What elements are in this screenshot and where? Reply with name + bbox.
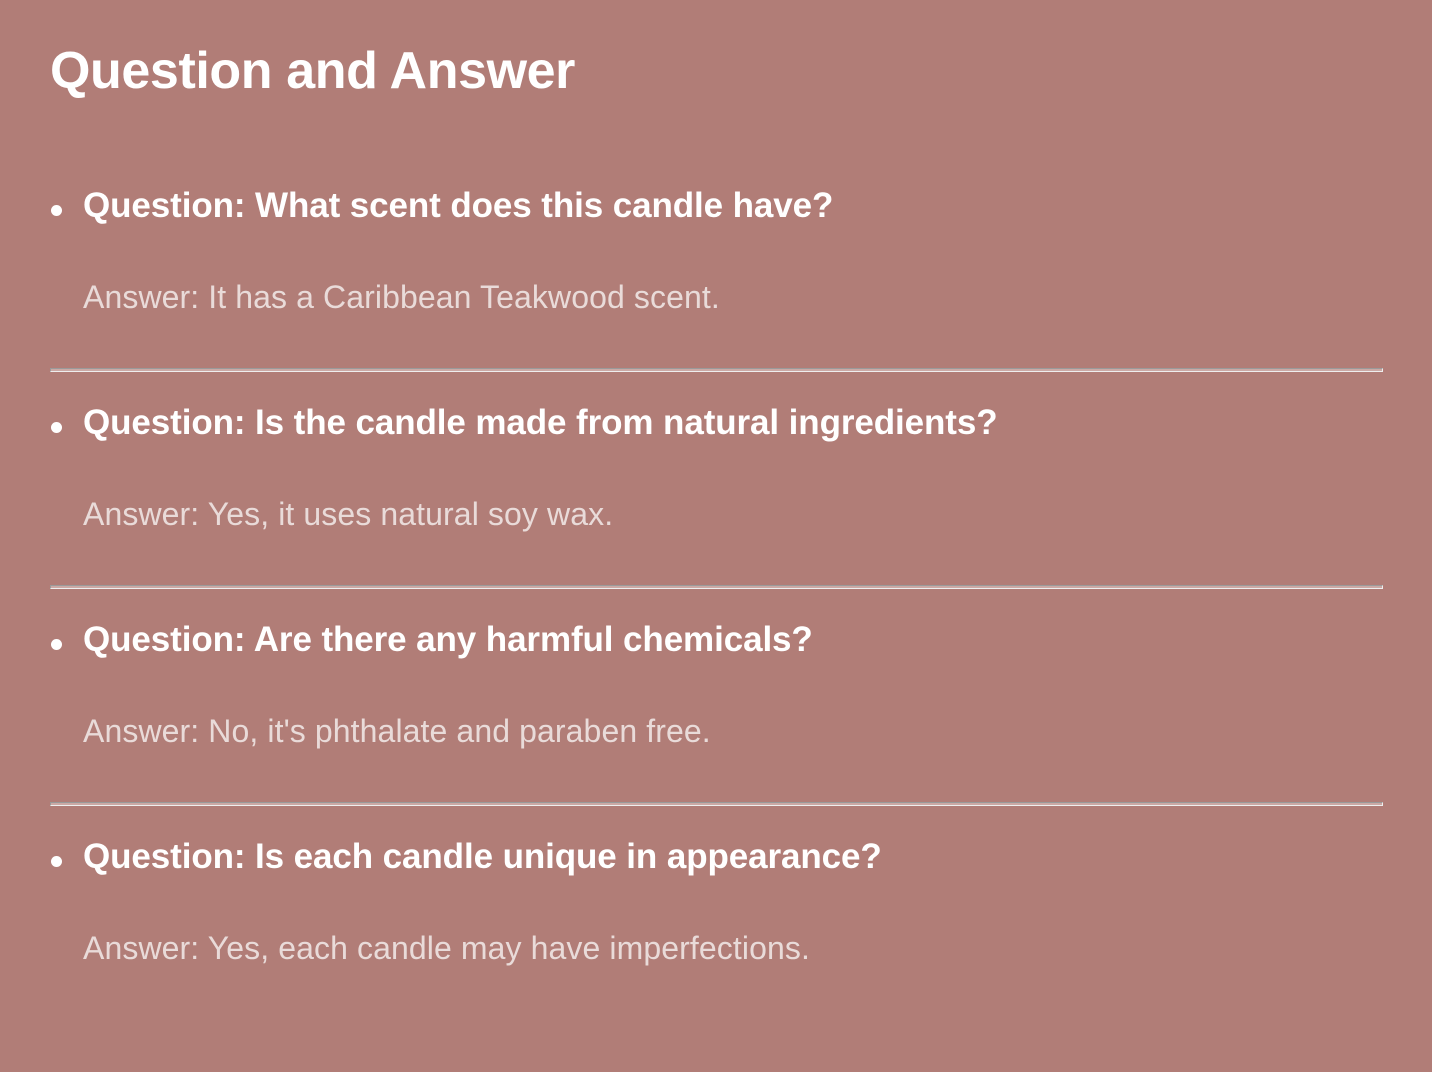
qa-divider <box>50 368 1383 372</box>
qa-answer: Answer: It has a Caribbean Teakwood scen… <box>83 277 720 319</box>
list-item: Question: Is each candle unique in appea… <box>0 809 1432 1026</box>
qa-answer: Answer: Yes, each candle may have imperf… <box>83 928 810 970</box>
list-item: Question: What scent does this candle ha… <box>0 158 1432 375</box>
qa-question: Question: Is the candle made from natura… <box>83 401 997 445</box>
qa-question: Question: Are there any harmful chemical… <box>83 618 813 662</box>
question-and-answer-panel: Question and Answer Question: What scent… <box>0 0 1432 1072</box>
qa-answer: Answer: No, it's phthalate and paraben f… <box>83 711 711 753</box>
qa-question: Question: What scent does this candle ha… <box>83 184 833 228</box>
page-title: Question and Answer <box>50 42 575 102</box>
qa-question: Question: Is each candle unique in appea… <box>83 835 882 879</box>
bullet-dot-icon <box>51 205 62 216</box>
list-item: Question: Are there any harmful chemical… <box>0 592 1432 809</box>
bullet-dot-icon <box>51 639 62 650</box>
qa-divider <box>50 802 1383 806</box>
bullet-dot-icon <box>51 422 62 433</box>
list-item: Question: Is the candle made from natura… <box>0 375 1432 592</box>
qa-list: Question: What scent does this candle ha… <box>0 158 1432 1026</box>
bullet-dot-icon <box>51 856 62 867</box>
qa-answer: Answer: Yes, it uses natural soy wax. <box>83 494 613 536</box>
qa-divider <box>50 585 1383 589</box>
